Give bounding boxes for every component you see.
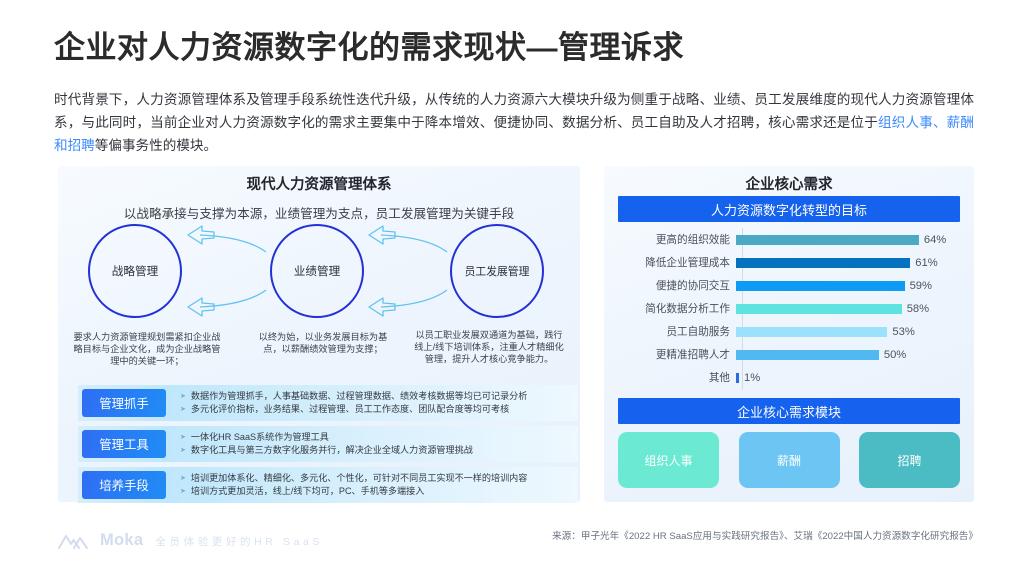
bar-track: 59% xyxy=(736,274,960,297)
means-bullet: 数据作为管理抓手，人事基础数据、过程管理数据、绩效考核数据等均已可记录分析 xyxy=(180,390,527,403)
means-row-training-method[interactable]: 培养手段 培训更加体系化、精细化、多元化、个性化，可针对不同员工实现不一样的培训… xyxy=(78,467,578,503)
page-title: 企业对人力资源数字化的需求现状—管理诉求 xyxy=(54,22,684,67)
bar-row: 其他1% xyxy=(618,366,960,389)
bar-track: 1% xyxy=(736,366,960,389)
bar-row: 员工自助服务53% xyxy=(618,320,960,343)
bar-value-label: 50% xyxy=(884,349,906,361)
goal-bar-chart: 更高的组织效能64%降低企业管理成本61%便捷的协同交互59%简化数据分析工作5… xyxy=(618,228,960,390)
means-bullet: 一体化HR SaaS系统作为管理工具 xyxy=(180,431,473,444)
means-bullet: 数字化工具与第三方数字化服务并行，解决企业全域人力资源管理挑战 xyxy=(180,444,473,457)
bar-category-label: 更精准招聘人才 xyxy=(618,347,736,362)
banner-digital-transformation-goal: 人力资源数字化转型的目标 xyxy=(618,196,960,222)
module-chip-compensation[interactable]: 薪酬 xyxy=(739,432,840,488)
means-row-management-lever[interactable]: 管理抓手 数据作为管理抓手，人事基础数据、过程管理数据、绩效考核数据等均已可记录… xyxy=(78,385,578,421)
circle-strategy-management[interactable]: 战略管理 xyxy=(88,224,182,318)
module-chip-label: 组织人事 xyxy=(644,452,692,469)
bar-value-label: 53% xyxy=(892,326,914,338)
means-tag: 管理抓手 xyxy=(82,389,166,417)
bar-track: 58% xyxy=(736,297,960,320)
bar-fill xyxy=(736,327,887,337)
bar-value-label: 64% xyxy=(924,234,946,246)
bar-fill xyxy=(736,304,902,314)
means-bullets: 数据作为管理抓手，人事基础数据、过程管理数据、绩效考核数据等均已可记录分析 多元… xyxy=(180,390,527,416)
bar-track: 64% xyxy=(736,228,960,251)
hr-means-list: 管理抓手 数据作为管理抓手，人事基础数据、过程管理数据、绩效考核数据等均已可记录… xyxy=(78,385,578,508)
moka-wordmark: Moka xyxy=(100,531,143,550)
arrow-pair-left-icon-2 xyxy=(365,224,451,318)
means-tag: 培养手段 xyxy=(82,471,166,499)
bar-fill xyxy=(736,235,919,245)
core-demand-panel: 企业核心需求 人力资源数字化转型的目标 更高的组织效能64%降低企业管理成本61… xyxy=(604,166,974,502)
circle-label: 战略管理 xyxy=(112,263,158,279)
circle-label: 业绩管理 xyxy=(294,263,340,279)
intro-text-part2: 等偏事务性的模块。 xyxy=(95,138,217,153)
banner-core-demand-modules: 企业核心需求模块 xyxy=(618,398,960,424)
circle-performance-management[interactable]: 业绩管理 xyxy=(270,224,364,318)
means-bullets: 培训更加体系化、精细化、多元化、个性化，可针对不同员工实现不一样的培训内容 培训… xyxy=(180,472,527,498)
bar-row: 简化数据分析工作58% xyxy=(618,297,960,320)
intro-text-part1: 时代背景下，人力资源管理体系及管理手段系统性迭代升级，从传统的人力资源六大模块升… xyxy=(54,92,974,130)
moka-tagline: 全员体验更好的HR SaaS xyxy=(155,534,323,550)
bar-category-label: 员工自助服务 xyxy=(618,324,736,339)
means-bullet: 培训更加体系化、精细化、多元化、个性化，可针对不同员工实现不一样的培训内容 xyxy=(180,472,527,485)
left-panel-heading: 现代人力资源管理体系 xyxy=(58,166,580,194)
circle-flow-diagram: 战略管理 业绩管理 员工发展管理 xyxy=(74,224,580,324)
circle-description-strategy: 要求人力资源管理规划需紧扣企业战略目标与企业文化，成为企业战略管理中的关键一环； xyxy=(72,331,222,368)
circle-employee-development-management[interactable]: 员工发展管理 xyxy=(450,224,544,318)
bar-fill xyxy=(736,258,910,268)
intro-paragraph: 时代背景下，人力资源管理体系及管理手段系统性迭代升级，从传统的人力资源六大模块升… xyxy=(54,88,974,157)
module-chip-organization-personnel[interactable]: 组织人事 xyxy=(618,432,719,488)
modern-hr-system-panel: 现代人力资源管理体系 以战略承接与支撑为本源，业绩管理为支点，员工发展管理为关键… xyxy=(58,166,580,502)
right-panel-heading: 企业核心需求 xyxy=(604,166,974,194)
bar-fill xyxy=(736,281,905,291)
bar-category-label: 简化数据分析工作 xyxy=(618,301,736,316)
left-panel-subtitle: 以战略承接与支撑为本源，业绩管理为支点，员工发展管理为关键手段 xyxy=(58,203,580,222)
source-citation: 来源：甲子光年《2022 HR SaaS应用与实践研究报告》、艾瑞《2022中国… xyxy=(552,528,978,542)
bar-row: 更精准招聘人才50% xyxy=(618,343,960,366)
circle-label: 员工发展管理 xyxy=(465,263,530,279)
bar-row: 降低企业管理成本61% xyxy=(618,251,960,274)
bar-category-label: 更高的组织效能 xyxy=(618,232,736,247)
bar-value-label: 1% xyxy=(744,372,760,384)
bar-track: 50% xyxy=(736,343,960,366)
bar-fill xyxy=(736,350,879,360)
bar-value-label: 61% xyxy=(915,257,937,269)
means-bullets: 一体化HR SaaS系统作为管理工具 数字化工具与第三方数字化服务并行，解决企业… xyxy=(180,431,473,457)
bar-category-label: 其他 xyxy=(618,370,736,385)
module-chip-recruitment[interactable]: 招聘 xyxy=(859,432,960,488)
module-chip-label: 招聘 xyxy=(897,452,921,469)
means-tag: 管理工具 xyxy=(82,430,166,458)
arrow-pair-left-icon xyxy=(184,224,270,318)
bar-track: 61% xyxy=(736,251,960,274)
bar-category-label: 便捷的协同交互 xyxy=(618,278,736,293)
bar-category-label: 降低企业管理成本 xyxy=(618,255,736,270)
module-chip-label: 薪酬 xyxy=(777,452,801,469)
bar-value-label: 58% xyxy=(907,303,929,315)
circle-description-development: 以员工职业发展双通道为基础，践行线上/线下培训体系，注重人才精细化管理，提升人才… xyxy=(414,329,564,366)
moka-logo: Moka 全员体验更好的HR SaaS xyxy=(58,531,323,550)
moka-mountain-icon xyxy=(58,533,88,550)
means-row-management-tool[interactable]: 管理工具 一体化HR SaaS系统作为管理工具 数字化工具与第三方数字化服务并行… xyxy=(78,426,578,462)
bar-row: 便捷的协同交互59% xyxy=(618,274,960,297)
module-chip-group: 组织人事 薪酬 招聘 xyxy=(618,432,960,488)
bar-track: 53% xyxy=(736,320,960,343)
circle-description-performance: 以终为始，以业务发展目标为基点，以薪酬绩效管理为支撑； xyxy=(254,331,392,355)
means-bullet: 培训方式更加灵活，线上/线下均可，PC、手机等多端接入 xyxy=(180,485,527,498)
bar-row: 更高的组织效能64% xyxy=(618,228,960,251)
bar-value-label: 59% xyxy=(910,280,932,292)
bar-fill xyxy=(736,373,739,383)
means-bullet: 多元化评价指标，业务结果、过程管理、员工工作态度、团队配合度等均可考核 xyxy=(180,403,527,416)
